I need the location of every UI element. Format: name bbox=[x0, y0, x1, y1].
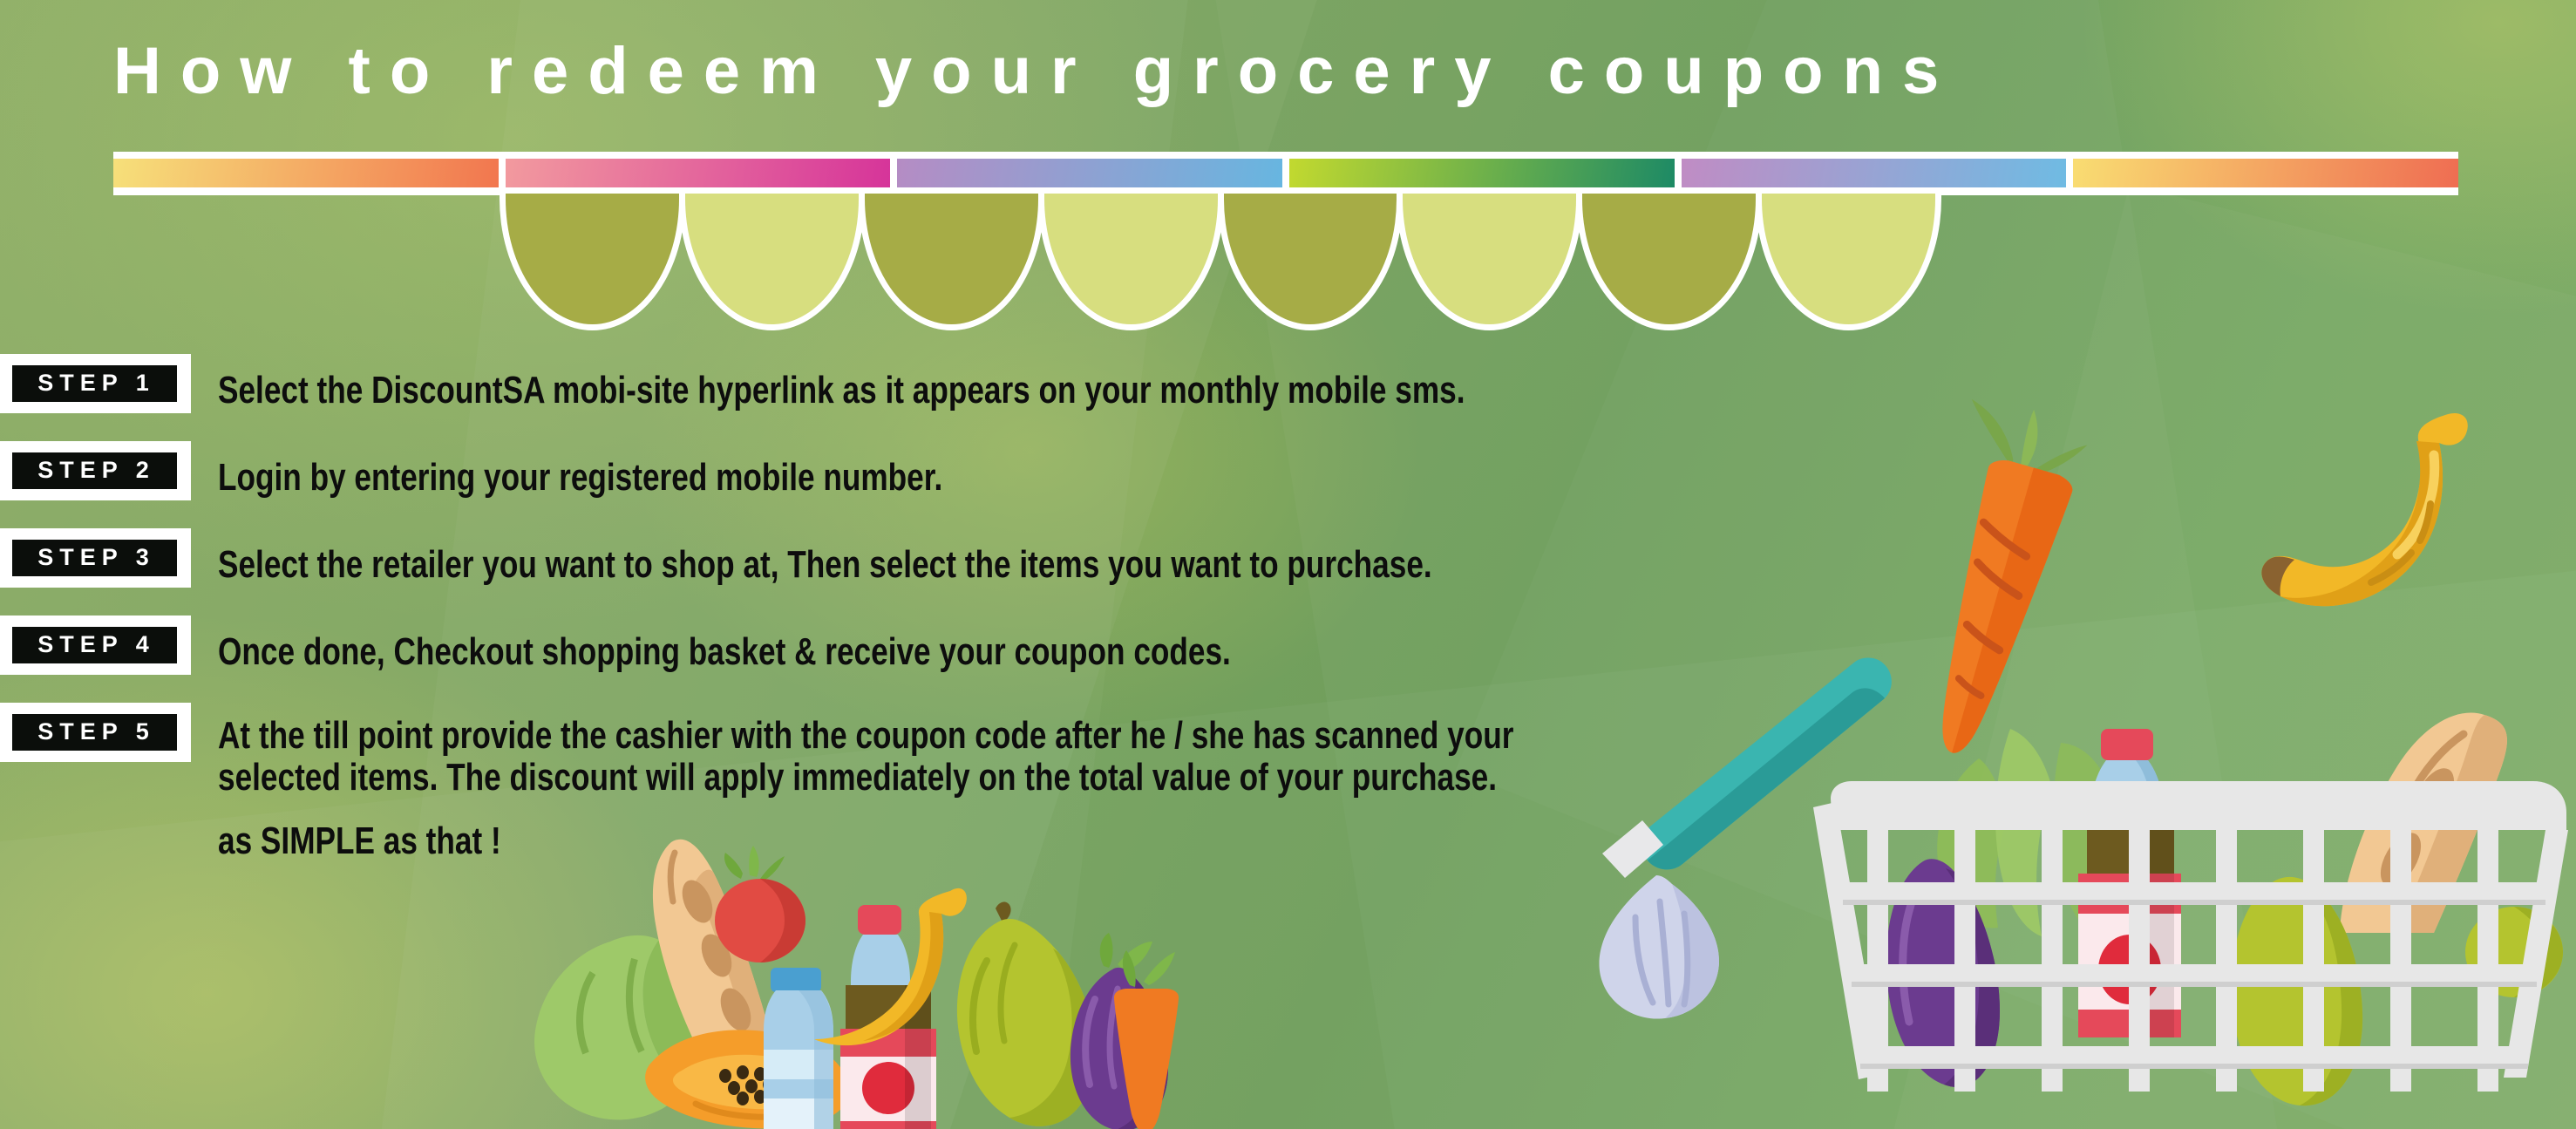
rule-segment-purple-blue bbox=[897, 159, 1282, 187]
awning-scallop bbox=[685, 194, 859, 324]
water-bottle-left bbox=[764, 968, 833, 1129]
step-badge-label: STEP 5 bbox=[12, 714, 177, 751]
step-badge: STEP 1 bbox=[0, 354, 191, 413]
step-badge-label: STEP 1 bbox=[12, 365, 177, 402]
page-title: How to redeem your grocery coupons bbox=[113, 38, 2467, 105]
step-row: STEP 2 Login by entering your registered… bbox=[0, 441, 2528, 528]
step-row: STEP 5 At the till point provide the cas… bbox=[0, 703, 2528, 877]
step-badge: STEP 3 bbox=[0, 528, 191, 588]
awning-scallop bbox=[865, 194, 1038, 324]
step-row: STEP 4 Once done, Checkout shopping bask… bbox=[0, 616, 2528, 703]
step-badge-label: STEP 3 bbox=[12, 540, 177, 576]
step-badge-label: STEP 4 bbox=[12, 627, 177, 663]
rule-segment-lime-teal bbox=[1289, 159, 1675, 187]
awning-scallops bbox=[506, 194, 1935, 324]
awning-scallop bbox=[1403, 194, 1576, 324]
awning-scallop bbox=[506, 194, 679, 324]
turnip-center bbox=[1552, 872, 1761, 1046]
lettuce-left bbox=[534, 935, 711, 1119]
steps-list: STEP 1 Select the DiscountSA mobi-site h… bbox=[0, 354, 2528, 877]
step-badge: STEP 4 bbox=[0, 616, 191, 675]
infographic-canvas: How to redeem your grocery coupons STEP … bbox=[0, 0, 2576, 1129]
rule-segment-lilac-skyblue bbox=[1682, 159, 2067, 187]
step-badge-label: STEP 2 bbox=[12, 452, 177, 489]
cart-eggplant bbox=[1886, 859, 2000, 1087]
baguette-left bbox=[653, 840, 783, 1122]
pear-left bbox=[957, 902, 1095, 1126]
banana-small-left bbox=[814, 888, 967, 1045]
rainbow-rule bbox=[113, 159, 2458, 187]
eggplant-left bbox=[1071, 933, 1168, 1129]
rule-segment-yellow-orange bbox=[113, 159, 499, 187]
step-badge: STEP 2 bbox=[0, 441, 191, 500]
cart-pear bbox=[2231, 877, 2362, 1105]
rule-segment-pink-magenta bbox=[506, 159, 891, 187]
tagline: as SIMPLE as that ! bbox=[218, 799, 2576, 863]
step-row: STEP 3 Select the retailer you want to s… bbox=[0, 528, 2528, 616]
step-text: Once done, Checkout shopping basket & re… bbox=[218, 616, 2576, 675]
step-badge: STEP 5 bbox=[0, 703, 191, 762]
step-text: Login by entering your registered mobile… bbox=[218, 441, 2576, 500]
carrot-small-left bbox=[1114, 950, 1179, 1129]
cart-lime bbox=[2465, 907, 2563, 997]
step-text: At the till point provide the cashier wi… bbox=[218, 703, 2576, 799]
step-text: Select the retailer you want to shop at,… bbox=[218, 528, 2576, 588]
awning-scallop bbox=[1582, 194, 1756, 324]
cart-frame-shading bbox=[1843, 900, 2545, 1069]
awning-scallop bbox=[1224, 194, 1397, 324]
step-text: Select the DiscountSA mobi-site hyperlin… bbox=[218, 354, 2576, 413]
papaya-left bbox=[645, 1030, 849, 1128]
awning-scallop bbox=[1762, 194, 1935, 324]
step-row: STEP 1 Select the DiscountSA mobi-site h… bbox=[0, 354, 2528, 441]
rule-segment-gold-coral bbox=[2073, 159, 2458, 187]
sauce-bottle-left bbox=[840, 905, 936, 1129]
awning-scallop bbox=[1044, 194, 1218, 324]
